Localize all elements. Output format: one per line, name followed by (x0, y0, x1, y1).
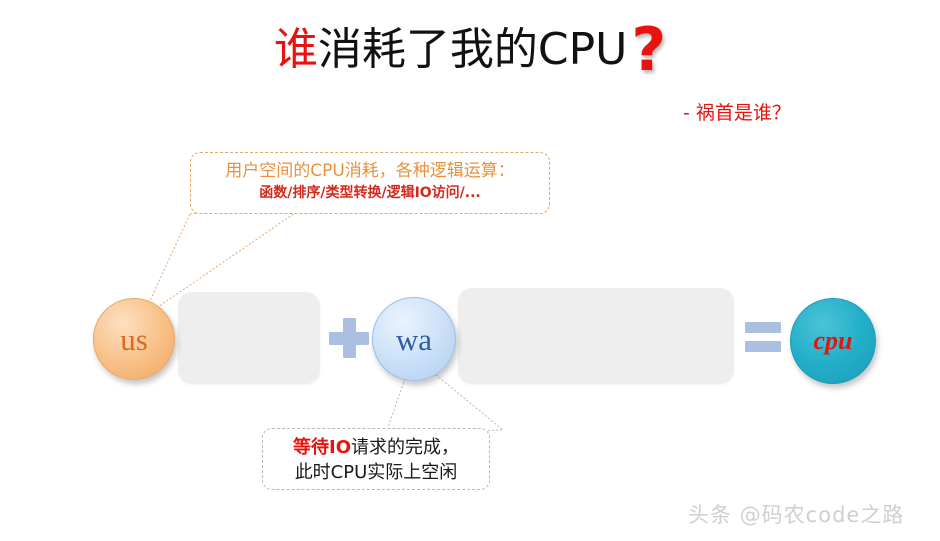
plus-bar-vertical (343, 318, 356, 358)
bubble-cpu-label: cpu (814, 328, 853, 354)
bubble-cpu: cpu (790, 298, 876, 384)
equals-bar-top (745, 322, 781, 333)
io-wait-callout-line2: 此时CPU实际上空闲 (263, 460, 489, 485)
bubble-us-label: us (120, 324, 148, 355)
io-wait-callout-line1: 等待IO请求的完成， (263, 435, 489, 460)
bubble-us: us (93, 298, 175, 380)
placeholder-box-1 (178, 292, 320, 384)
bubble-wa: wa (372, 297, 456, 381)
watermark: 头条 @码农code之路 (688, 501, 904, 529)
equals-bar-bottom (745, 341, 781, 352)
equals-operator-icon (745, 322, 781, 354)
user-space-callout-line1: 用户空间的CPU消耗，各种逻辑运算： (191, 160, 549, 183)
slide-canvas: 谁消耗了我的CPU? - 祸首是谁？ 用户空间的CPU消耗，各种逻辑运算： 函数… (0, 0, 940, 541)
plus-operator-icon (329, 318, 369, 358)
title-question-mark: ? (631, 15, 666, 85)
bubble-wa-label: wa (396, 324, 432, 355)
title-rest: 消耗了我的CPU (318, 24, 627, 75)
io-wait-callout-line1-red: 等待IO (293, 437, 351, 458)
io-wait-callout-line1-rest: 请求的完成， (351, 437, 459, 458)
page-title: 谁消耗了我的CPU? (0, 22, 940, 78)
io-wait-callout: 等待IO请求的完成， 此时CPU实际上空闲 (262, 428, 490, 490)
placeholder-box-2 (458, 288, 734, 384)
user-space-callout-line2: 函数/排序/类型转换/逻辑IO访问/... (191, 183, 549, 204)
subtitle: - 祸首是谁？ (683, 100, 791, 126)
title-highlight: 谁 (274, 24, 318, 75)
user-space-callout: 用户空间的CPU消耗，各种逻辑运算： 函数/排序/类型转换/逻辑IO访问/... (190, 152, 550, 214)
